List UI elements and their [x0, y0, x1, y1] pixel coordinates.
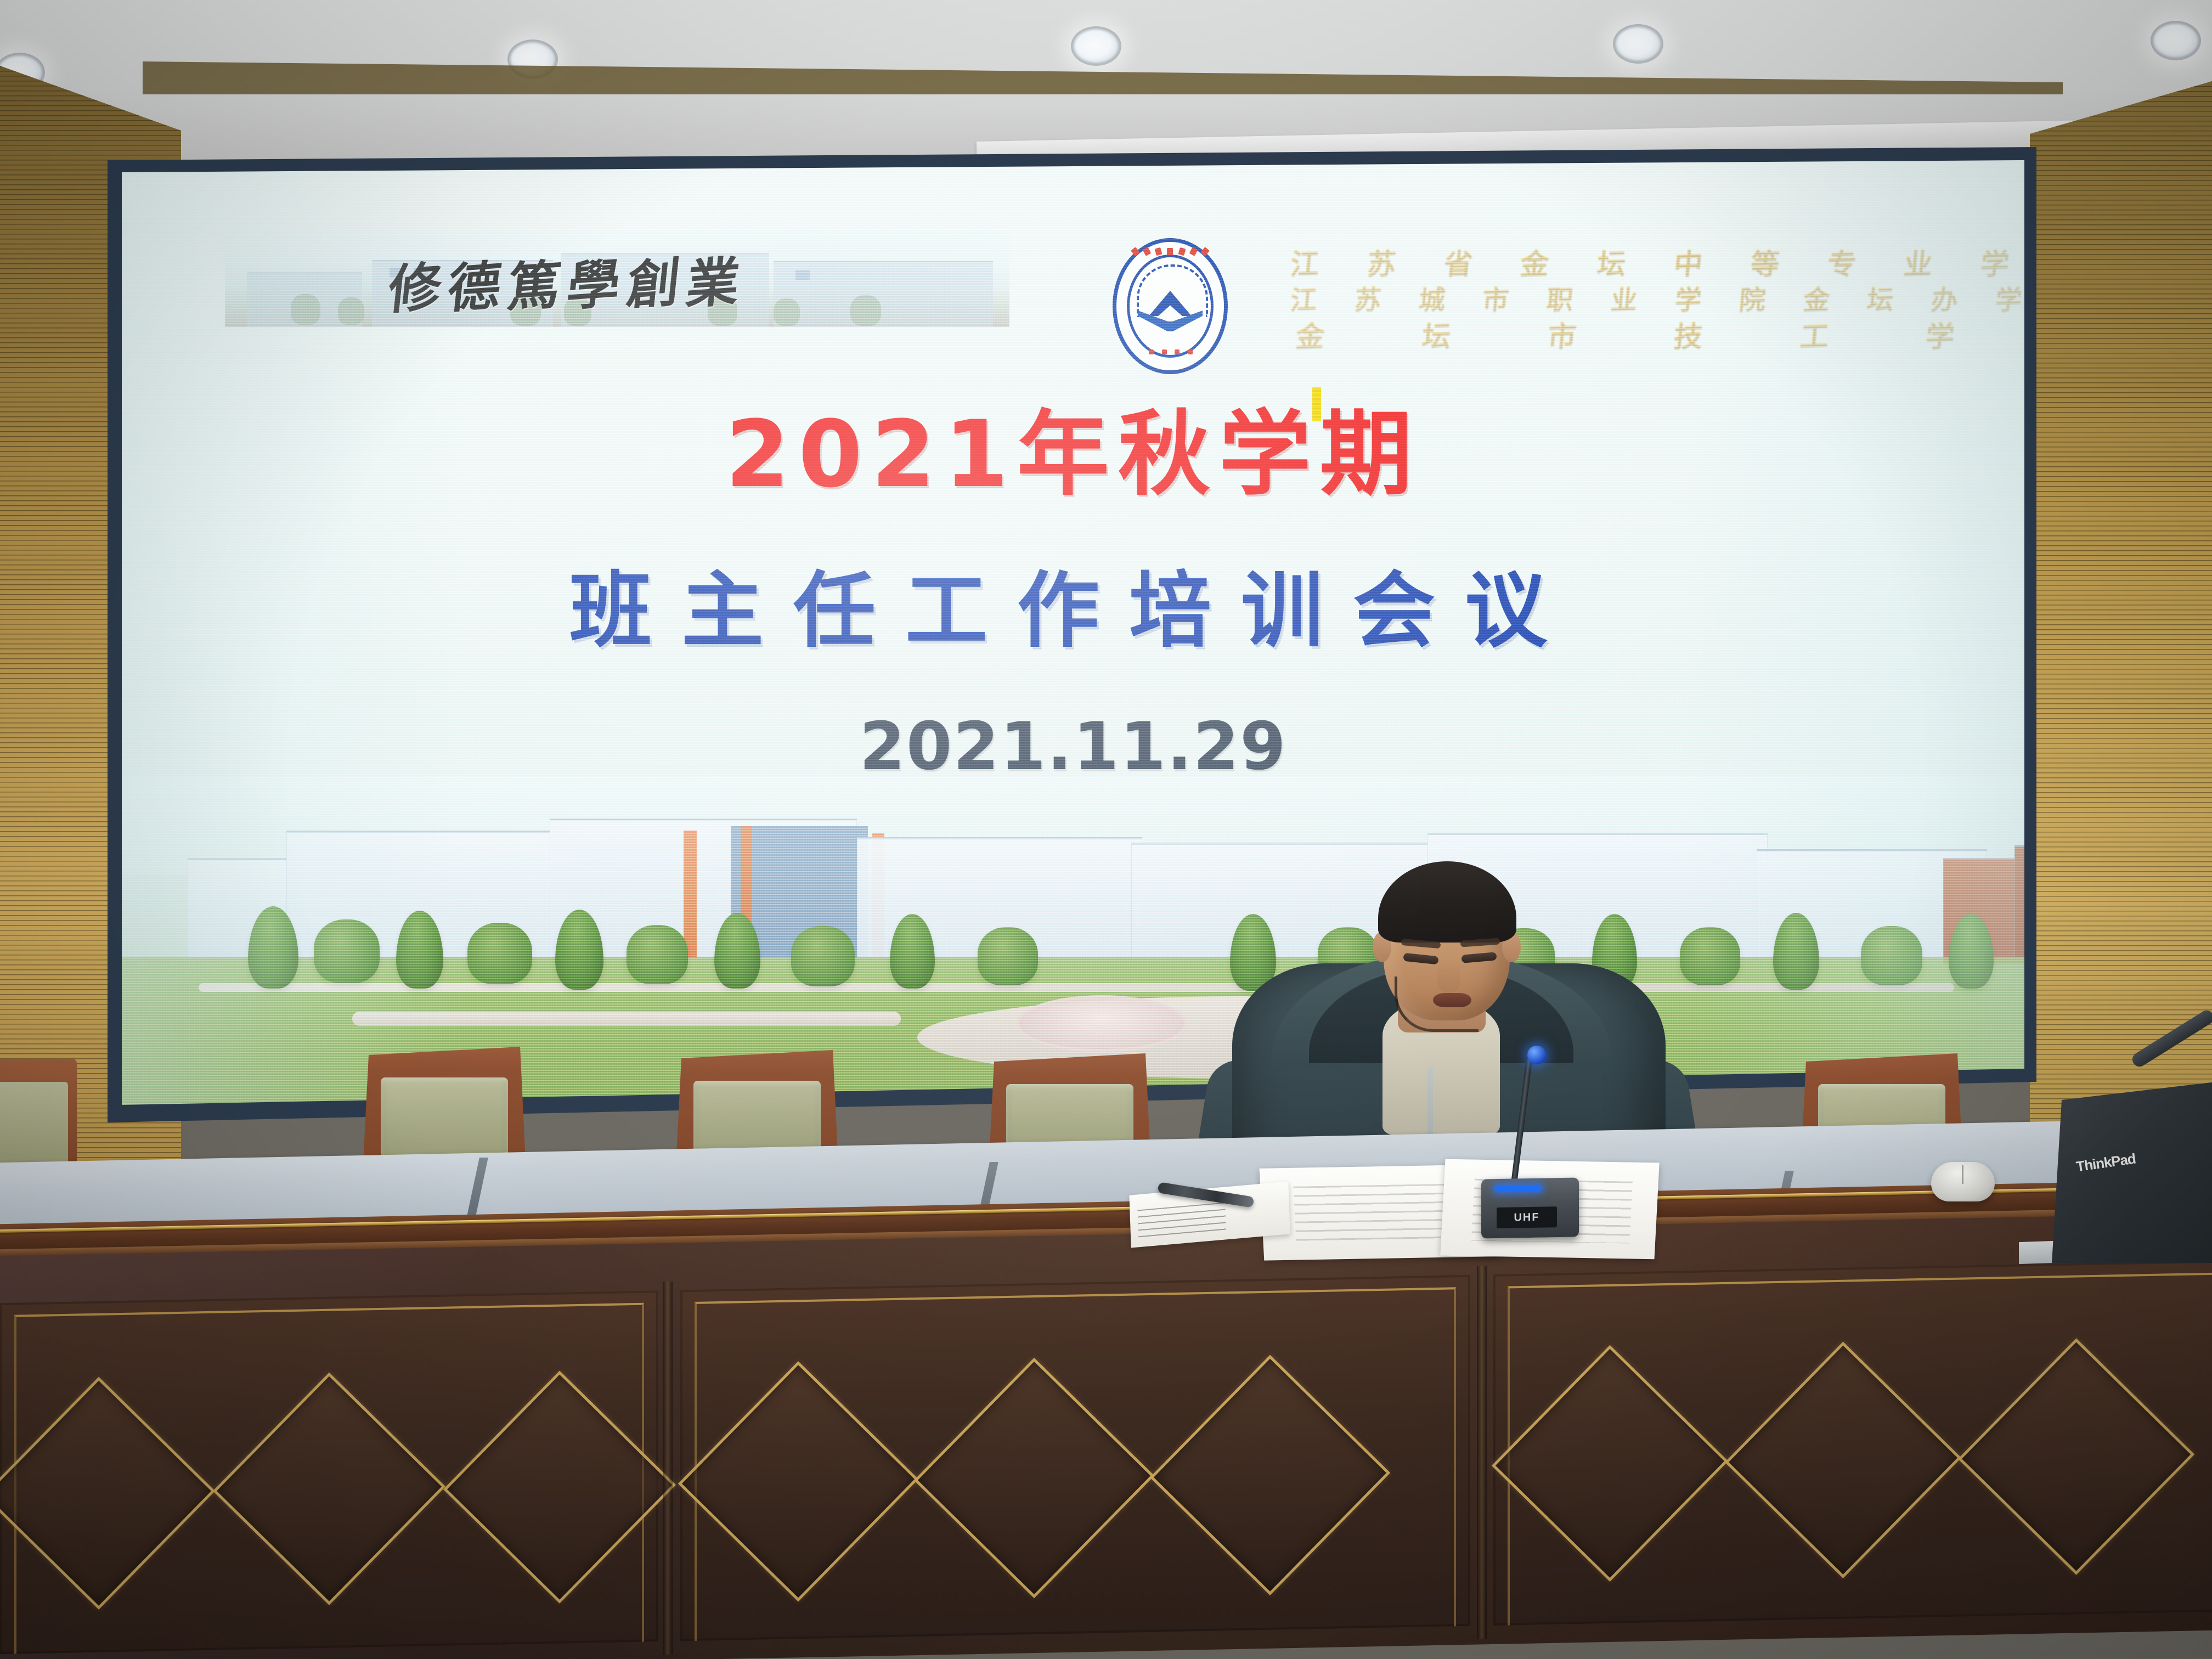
computer-mouse[interactable] [1931, 1162, 1995, 1201]
school-name-line-3: 金 坛 市 技 工 学 校 [1288, 315, 2024, 351]
glyph: 苏 [1353, 277, 1383, 317]
chair-edge-left[interactable] [0, 1059, 77, 1174]
glyph: 省 [1442, 240, 1474, 282]
glyph: 中 [1672, 240, 1705, 282]
wall-panel-right [2030, 81, 2212, 1184]
motto-char: 修 [385, 244, 447, 324]
glyph: 坛 [1420, 312, 1452, 354]
motto-char: 德 [445, 242, 507, 323]
downlight-icon [1613, 24, 1663, 64]
glyph: 技 [1672, 312, 1705, 354]
glyph: 市 [1546, 312, 1578, 354]
podium-panel [0, 1290, 658, 1654]
glyph: 职 [1545, 277, 1575, 317]
motto-char: 篤 [504, 241, 566, 321]
glyph: 学 [1994, 277, 2023, 317]
conference-room-photo: 修 德 篤 學 創 業 [0, 0, 2212, 1659]
glyph: 坛 [1865, 277, 1895, 317]
microphone-head-icon [1527, 1046, 1546, 1064]
glyph: 专 [1825, 240, 1858, 282]
school-name-line-1: 江 苏 省 金 坛 中 等 专 业 学 校 [1288, 242, 2024, 279]
glyph: 业 [1902, 240, 1934, 282]
glyph: 城 [1417, 277, 1446, 317]
glyph: 业 [1609, 277, 1639, 317]
school-name-block: 江 苏 省 金 坛 中 等 专 业 学 校 江 苏 城 市 职 [1290, 242, 2024, 351]
downlight-icon [1071, 26, 1121, 66]
laptop[interactable]: ThinkPad [2052, 1082, 2212, 1263]
glyph: 江 [1289, 240, 1321, 282]
glyph: 坛 [1595, 240, 1628, 282]
podium-divider [1477, 1266, 1487, 1639]
speaker-hair [1378, 861, 1516, 943]
slide-title-secondary: 班主任工作培训会议 [122, 544, 2024, 663]
podium-panel [680, 1275, 1470, 1641]
glyph: 学 [1673, 277, 1703, 317]
led-screen[interactable]: 修 德 篤 學 創 業 [122, 160, 2024, 1105]
school-name-line-2: 江 苏 城 市 职 业 学 院 金 坛 办 学 点 [1288, 279, 2024, 315]
microphone-label: UHF [1497, 1206, 1557, 1228]
documents [1262, 1161, 1657, 1260]
laptop-brand-label: ThinkPad [2075, 1150, 2136, 1175]
glyph: 市 [1481, 277, 1510, 317]
campus-banner-photo: 修 德 篤 學 創 業 [225, 229, 1009, 327]
school-motto-calligraphy: 修 德 篤 學 創 業 [386, 241, 744, 320]
motto-char: 業 [683, 238, 745, 318]
title-yellow-marker [1312, 387, 1321, 421]
downlight-icon [2151, 21, 2201, 60]
podium-front [0, 1213, 2212, 1659]
glyph: 学 [1924, 312, 1956, 354]
microphone-led-indicator [1494, 1185, 1542, 1193]
glyph: 金 [1294, 312, 1327, 354]
glyph: 办 [1929, 277, 1959, 317]
slide-date: 2021.11.29 [122, 709, 2024, 785]
glyph: 院 [1737, 277, 1767, 317]
glyph: 苏 [1365, 240, 1397, 282]
glyph: 工 [1798, 312, 1830, 354]
glyph: 金 [1519, 240, 1551, 282]
microphone-base[interactable]: UHF [1481, 1177, 1579, 1238]
thinkpad-logo: ThinkPad [2075, 1150, 2136, 1176]
podium-divider [663, 1282, 673, 1655]
motto-char: 創 [623, 239, 685, 319]
glyph: 学 [1979, 240, 2011, 282]
motto-char: 學 [564, 240, 626, 320]
glyph: 金 [1801, 277, 1831, 317]
presentation-slide: 修 德 篤 學 創 業 [122, 160, 2024, 1105]
slide-title-primary: 2021年秋学期 [122, 380, 2024, 513]
glyph: 等 [1748, 240, 1781, 282]
glyph: 江 [1289, 277, 1318, 317]
school-emblem-icon [1113, 238, 1228, 374]
podium-panel [1493, 1260, 2212, 1626]
